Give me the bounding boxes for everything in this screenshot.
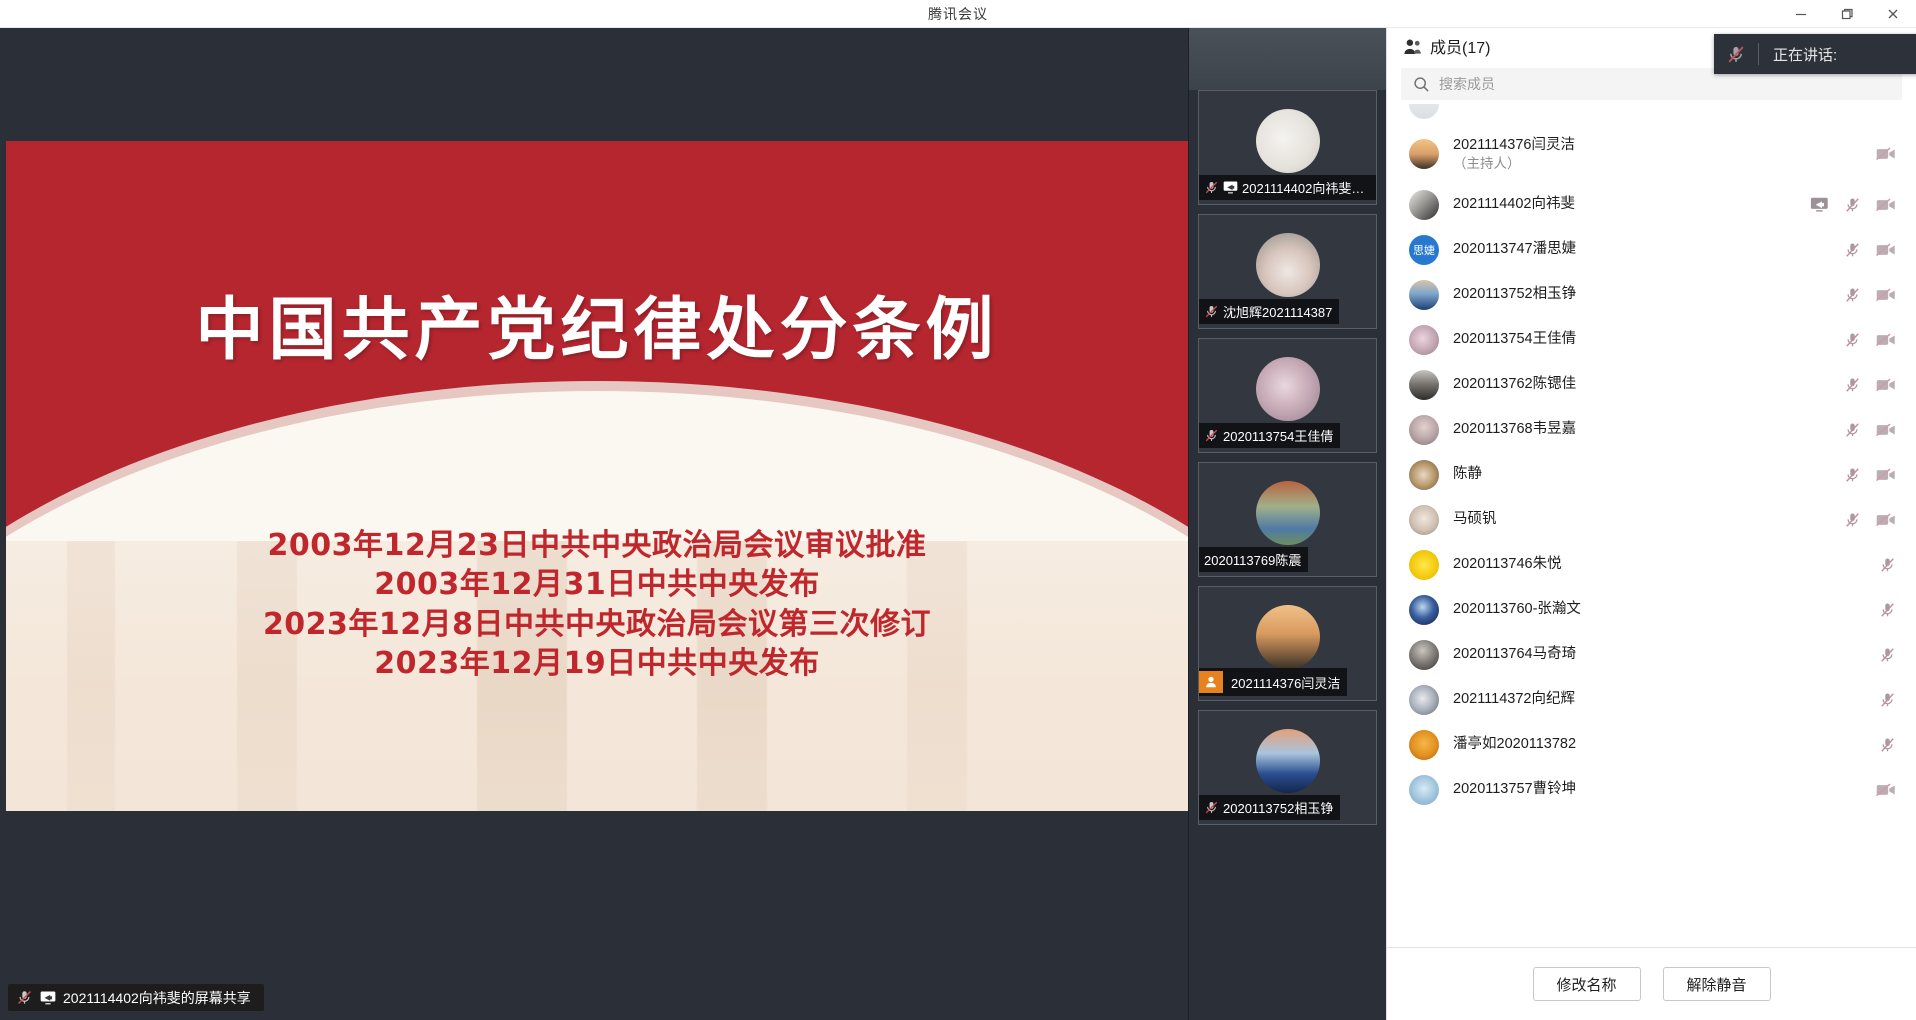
avatar: [1409, 460, 1439, 490]
speaking-banner: 正在讲话:: [1714, 34, 1916, 74]
screen-share-icon: [40, 991, 56, 1005]
participant-status-icons: [1844, 317, 1896, 362]
video-tile-label: 2020113754王佳倩: [1199, 423, 1340, 448]
participant-display-name: 2021114376闫灵洁: [1453, 137, 1575, 153]
video-tile-label: 2021114402向祎斐正在...: [1199, 175, 1376, 200]
slide-curve-white: [6, 391, 1188, 541]
participant-status-icons: [1876, 767, 1896, 812]
video-tile-label: 2020113752相玉铮: [1199, 795, 1340, 820]
cam-off-icon[interactable]: [1876, 783, 1896, 797]
mic-muted-icon[interactable]: [1879, 691, 1896, 709]
close-button[interactable]: [1870, 0, 1916, 28]
mic-muted-icon[interactable]: [1879, 601, 1896, 619]
participant-name: 2020113762陈锶佳: [1453, 375, 1576, 394]
mic-muted-icon: [1204, 304, 1219, 319]
participant-status-icons: [1879, 632, 1896, 677]
avatar: [1409, 775, 1439, 805]
unmute-button[interactable]: 解除静音: [1663, 967, 1771, 1001]
participant-status-icons: [1876, 126, 1896, 182]
avatar: [1409, 370, 1439, 400]
mic-muted-icon[interactable]: [1844, 511, 1861, 529]
list-item[interactable]: 2020113746朱悦: [1387, 542, 1916, 587]
list-item[interactable]: 马硕钒: [1387, 497, 1916, 542]
participants-count-title: 成员(17): [1430, 34, 1490, 58]
list-item[interactable]: [1387, 104, 1916, 126]
slide-line: 2023年12月19日中共中央发布: [6, 644, 1188, 683]
participant-status-icons: [1844, 497, 1896, 542]
slide-line: 2023年12月8日中共中央政治局会议第三次修订: [6, 605, 1188, 644]
video-tile[interactable]: 2021114376闫灵洁: [1198, 586, 1377, 701]
list-item[interactable]: 2021114376闫灵洁 （主持人）: [1387, 126, 1916, 182]
participant-name: 2021114376闫灵洁 （主持人）: [1453, 136, 1575, 172]
participants-panel: 成员(17) 搜索成员: [1386, 28, 1916, 1020]
mic-muted-icon[interactable]: [1844, 196, 1861, 214]
mic-muted-icon: [16, 989, 33, 1006]
participant-name: 2020113757曹铃坤: [1453, 780, 1576, 799]
mic-muted-icon[interactable]: [1879, 736, 1896, 754]
participant-status-icons: [1879, 587, 1896, 632]
avatar: [1256, 357, 1320, 421]
participant-status-icons: [1844, 407, 1896, 452]
mic-muted-icon: [1714, 44, 1758, 65]
rename-button[interactable]: 修改名称: [1533, 967, 1641, 1001]
slide-title: 中国共产党纪律处分条例: [6, 274, 1188, 373]
video-tile-label: 2020113769陈震: [1199, 547, 1308, 572]
participant-name: 2020113747潘思婕: [1453, 240, 1576, 259]
participant-name: 马硕钒: [1453, 510, 1497, 529]
video-tile-name: 2021114376闫灵洁: [1231, 673, 1340, 692]
participant-name: 2021114402向祎斐: [1453, 195, 1575, 214]
participant-status-icons: [1844, 272, 1896, 317]
share-status-text: 2021114402向祎斐的屏幕共享: [63, 988, 251, 1008]
participant-status-icons: [1844, 362, 1896, 407]
list-item[interactable]: 2020113768韦昱嘉: [1387, 407, 1916, 452]
video-tile[interactable]: 2020113752相玉铮: [1198, 710, 1377, 825]
minimize-button[interactable]: [1778, 0, 1824, 28]
cam-off-icon[interactable]: [1876, 513, 1896, 527]
participant-status-icons: [1879, 677, 1896, 722]
mic-muted-icon[interactable]: [1844, 376, 1861, 394]
participant-status-icons: [1879, 542, 1896, 587]
mic-muted-icon[interactable]: [1844, 466, 1861, 484]
host-badge-icon: [1199, 671, 1223, 693]
screen-share-status-chip: 2021114402向祎斐的屏幕共享: [8, 984, 264, 1011]
participant-name: 2020113746朱悦: [1453, 555, 1562, 574]
participants-list[interactable]: 2021114376闫灵洁 （主持人） 2021114402向祎斐: [1387, 104, 1916, 948]
app-title: 腾讯会议: [928, 4, 988, 24]
participant-status-icons: [1879, 722, 1896, 767]
search-icon: [1413, 76, 1430, 93]
search-placeholder: 搜索成员: [1439, 74, 1495, 94]
screen-share-icon: [1223, 181, 1238, 194]
window-controls: [1778, 0, 1916, 28]
presentation-slide: 中国共产党纪律处分条例 2003年12月23日中共中央政治局会议审议批准 200…: [6, 141, 1188, 811]
mic-muted-icon[interactable]: [1879, 556, 1896, 574]
list-item[interactable]: 思婕 2020113747潘思婕: [1387, 227, 1916, 272]
list-item[interactable]: 潘亭如2020113782: [1387, 722, 1916, 767]
video-tile[interactable]: 2020113754王佳倩: [1198, 338, 1377, 453]
avatar: [1409, 139, 1439, 169]
participant-name: 2020113768韦昱嘉: [1453, 420, 1576, 439]
cam-off-icon[interactable]: [1876, 378, 1896, 392]
avatar: 思婕: [1409, 235, 1439, 265]
avatar: [1256, 481, 1320, 545]
avatar: [1409, 640, 1439, 670]
avatar: [1256, 109, 1320, 173]
mic-muted-icon: [1204, 800, 1219, 815]
participant-status-icons: [1844, 452, 1896, 497]
video-tile-name: 2020113769陈震: [1204, 550, 1301, 569]
video-tile-name: 2021114402向祎斐正在...: [1242, 178, 1369, 197]
avatar: [1409, 104, 1439, 119]
list-item[interactable]: 陈静: [1387, 452, 1916, 497]
video-tile[interactable]: 2021114402向祎斐正在...: [1198, 90, 1377, 205]
list-item[interactable]: 2020113754王佳倩: [1387, 317, 1916, 362]
avatar: [1409, 550, 1439, 580]
mic-muted-icon[interactable]: [1844, 421, 1861, 439]
video-tile[interactable]: 沈旭辉2021114387: [1198, 214, 1377, 329]
cam-off-icon[interactable]: [1876, 468, 1896, 482]
window-titlebar: 腾讯会议: [0, 0, 1916, 28]
list-item[interactable]: 2020113757曹铃坤: [1387, 767, 1916, 812]
list-item[interactable]: 2020113760-张瀚文: [1387, 587, 1916, 632]
list-item[interactable]: 2020113764马奇琦: [1387, 632, 1916, 677]
cam-off-icon[interactable]: [1876, 288, 1896, 302]
cam-off-icon[interactable]: [1876, 423, 1896, 437]
avatar: [1256, 233, 1320, 297]
avatar: [1409, 730, 1439, 760]
participants-panel-footer: 修改名称 解除静音: [1387, 948, 1916, 1020]
video-tile-name: 2020113752相玉铮: [1223, 798, 1333, 817]
cam-off-icon[interactable]: [1876, 198, 1896, 212]
screen-share-icon[interactable]: [1810, 197, 1829, 212]
participant-name: 陈静: [1453, 465, 1482, 484]
avatar: [1409, 190, 1439, 220]
avatar: [1256, 605, 1320, 669]
avatar: [1409, 595, 1439, 625]
mic-muted-icon[interactable]: [1844, 331, 1861, 349]
video-tile[interactable]: 2020113769陈震: [1198, 462, 1377, 577]
participant-name: 潘亭如2020113782: [1453, 735, 1576, 754]
video-tile-label: 沈旭辉2021114387: [1199, 299, 1339, 324]
video-tile-label: 2021114376闫灵洁: [1199, 668, 1347, 696]
avatar: [1409, 280, 1439, 310]
participant-name: 2020113752相玉铮: [1453, 285, 1576, 304]
participant-role: （主持人）: [1453, 155, 1575, 173]
video-filmstrip[interactable]: 2021114402向祎斐正在... 沈旭辉2021114387: [1188, 28, 1386, 1020]
filmstrip-top-gradient: [1189, 28, 1386, 90]
list-item[interactable]: 2020113762陈锶佳: [1387, 362, 1916, 407]
mic-muted-icon[interactable]: [1844, 241, 1861, 259]
people-icon: [1403, 38, 1422, 55]
avatar: [1409, 505, 1439, 535]
mic-muted-icon[interactable]: [1879, 646, 1896, 664]
mic-muted-icon[interactable]: [1844, 286, 1861, 304]
mic-muted-icon: [1204, 180, 1219, 195]
slide-line: 2003年12月23日中共中央政治局会议审议批准: [6, 526, 1188, 565]
slide-line: 2003年12月31日中共中央发布: [6, 565, 1188, 604]
avatar: [1409, 415, 1439, 445]
maximize-button[interactable]: [1824, 0, 1870, 28]
speaking-label: 正在讲话:: [1759, 44, 1837, 65]
mic-muted-icon: [1204, 428, 1219, 443]
slide-body-lines: 2003年12月23日中共中央政治局会议审议批准 2003年12月31日中共中央…: [6, 526, 1188, 683]
shared-screen-stage[interactable]: 中国共产党纪律处分条例 2003年12月23日中共中央政治局会议审议批准 200…: [0, 28, 1188, 1020]
list-item[interactable]: 2021114372向纪辉: [1387, 677, 1916, 722]
video-tile-name: 沈旭辉2021114387: [1223, 302, 1332, 321]
filmstrip-tiles: 2021114402向祎斐正在... 沈旭辉2021114387: [1189, 90, 1386, 834]
avatar: [1409, 325, 1439, 355]
video-tile-name: 2020113754王佳倩: [1223, 426, 1333, 445]
cam-off-icon[interactable]: [1876, 333, 1896, 347]
participant-name: 2020113764马奇琦: [1453, 645, 1576, 664]
participant-name: 2020113760-张瀚文: [1453, 600, 1581, 619]
list-item[interactable]: 2020113752相玉铮: [1387, 272, 1916, 317]
avatar: [1256, 729, 1320, 793]
avatar: [1409, 685, 1439, 715]
cam-off-icon[interactable]: [1876, 147, 1896, 161]
cam-off-icon[interactable]: [1876, 243, 1896, 257]
participant-name: 2020113754王佳倩: [1453, 330, 1576, 349]
list-item[interactable]: 2021114402向祎斐: [1387, 182, 1916, 227]
participant-status-icons: [1810, 182, 1896, 227]
participant-name: 2021114372向纪辉: [1453, 690, 1575, 709]
participant-status-icons: [1844, 227, 1896, 272]
